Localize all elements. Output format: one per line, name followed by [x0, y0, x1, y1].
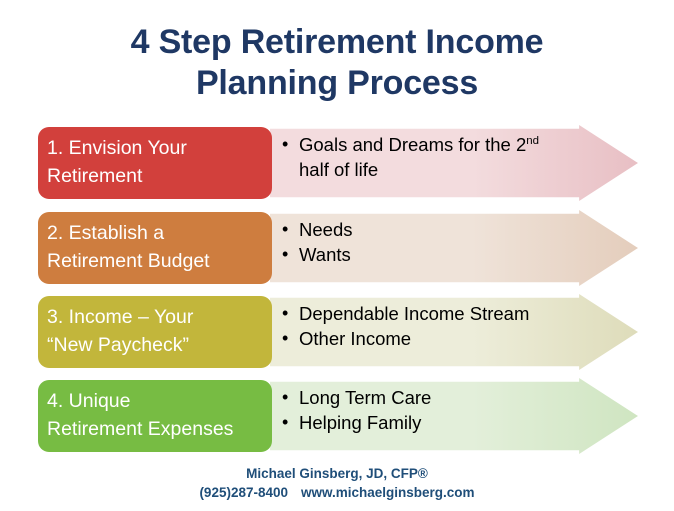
step-1-bullets: Goals and Dreams for the 2nd half of lif… — [282, 132, 632, 182]
step-1-bullet-1-line-1: Goals and Dreams for the 2nd — [299, 132, 632, 157]
step-2-label-line-1: 2. Establish a — [47, 219, 272, 247]
step-3-label-box[interactable]: 3. Income – Your “New Paycheck” — [38, 296, 272, 368]
step-2-label-line-2: Retirement Budget — [47, 247, 272, 275]
page-title-line-1: 4 Step Retirement Income — [0, 22, 674, 63]
step-1-bullet-1-text: Goals and Dreams for the 2 — [299, 134, 526, 155]
step-1-label-line-2: Retirement — [47, 162, 272, 190]
page-title: 4 Step Retirement Income Planning Proces… — [0, 22, 674, 104]
step-1-bullet-1-line-2: half of life — [299, 157, 632, 182]
list-item: Goals and Dreams for the 2nd half of lif… — [282, 132, 632, 182]
step-1-label-line-1: 1. Envision Your — [47, 134, 272, 162]
footer: Michael Ginsberg, JD, CFP® (925)287-8400… — [0, 464, 674, 502]
step-4-label-box[interactable]: 4. Unique Retirement Expenses — [38, 380, 272, 452]
list-item: Needs — [282, 217, 632, 242]
list-item: Dependable Income Stream — [282, 301, 632, 326]
step-4-bullets: Long Term Care Helping Family — [282, 385, 632, 435]
step-2-bullets: Needs Wants — [282, 217, 632, 267]
step-3-bullets: Dependable Income Stream Other Income — [282, 301, 632, 351]
step-2-label-box[interactable]: 2. Establish a Retirement Budget — [38, 212, 272, 284]
process-step-1: 1. Envision Your Retirement Goals and Dr… — [38, 127, 638, 199]
list-item: Long Term Care — [282, 385, 632, 410]
step-3-label-line-1: 3. Income – Your — [47, 303, 272, 331]
process-step-3: 3. Income – Your “New Paycheck” Dependab… — [38, 296, 638, 368]
step-4-label-line-1: 4. Unique — [47, 387, 272, 415]
process-steps-list: 1. Envision Your Retirement Goals and Dr… — [0, 127, 674, 457]
list-item: Wants — [282, 242, 632, 267]
list-item: Helping Family — [282, 410, 632, 435]
footer-name: Michael Ginsberg, JD, CFP® — [0, 464, 674, 483]
step-1-bullet-1-superscript: nd — [526, 135, 539, 147]
footer-contact: (925)287-8400www.michaelginsberg.com — [0, 483, 674, 502]
process-step-4: 4. Unique Retirement Expenses Long Term … — [38, 380, 638, 452]
step-3-label-line-2: “New Paycheck” — [47, 331, 272, 359]
list-item: Other Income — [282, 326, 632, 351]
step-1-label-box[interactable]: 1. Envision Your Retirement — [38, 127, 272, 199]
footer-phone: (925)287-8400 — [199, 485, 288, 500]
process-step-2: 2. Establish a Retirement Budget Needs W… — [38, 212, 638, 284]
step-4-label-line-2: Retirement Expenses — [47, 415, 272, 443]
page-title-line-2: Planning Process — [0, 63, 674, 104]
footer-website[interactable]: www.michaelginsberg.com — [301, 485, 475, 500]
